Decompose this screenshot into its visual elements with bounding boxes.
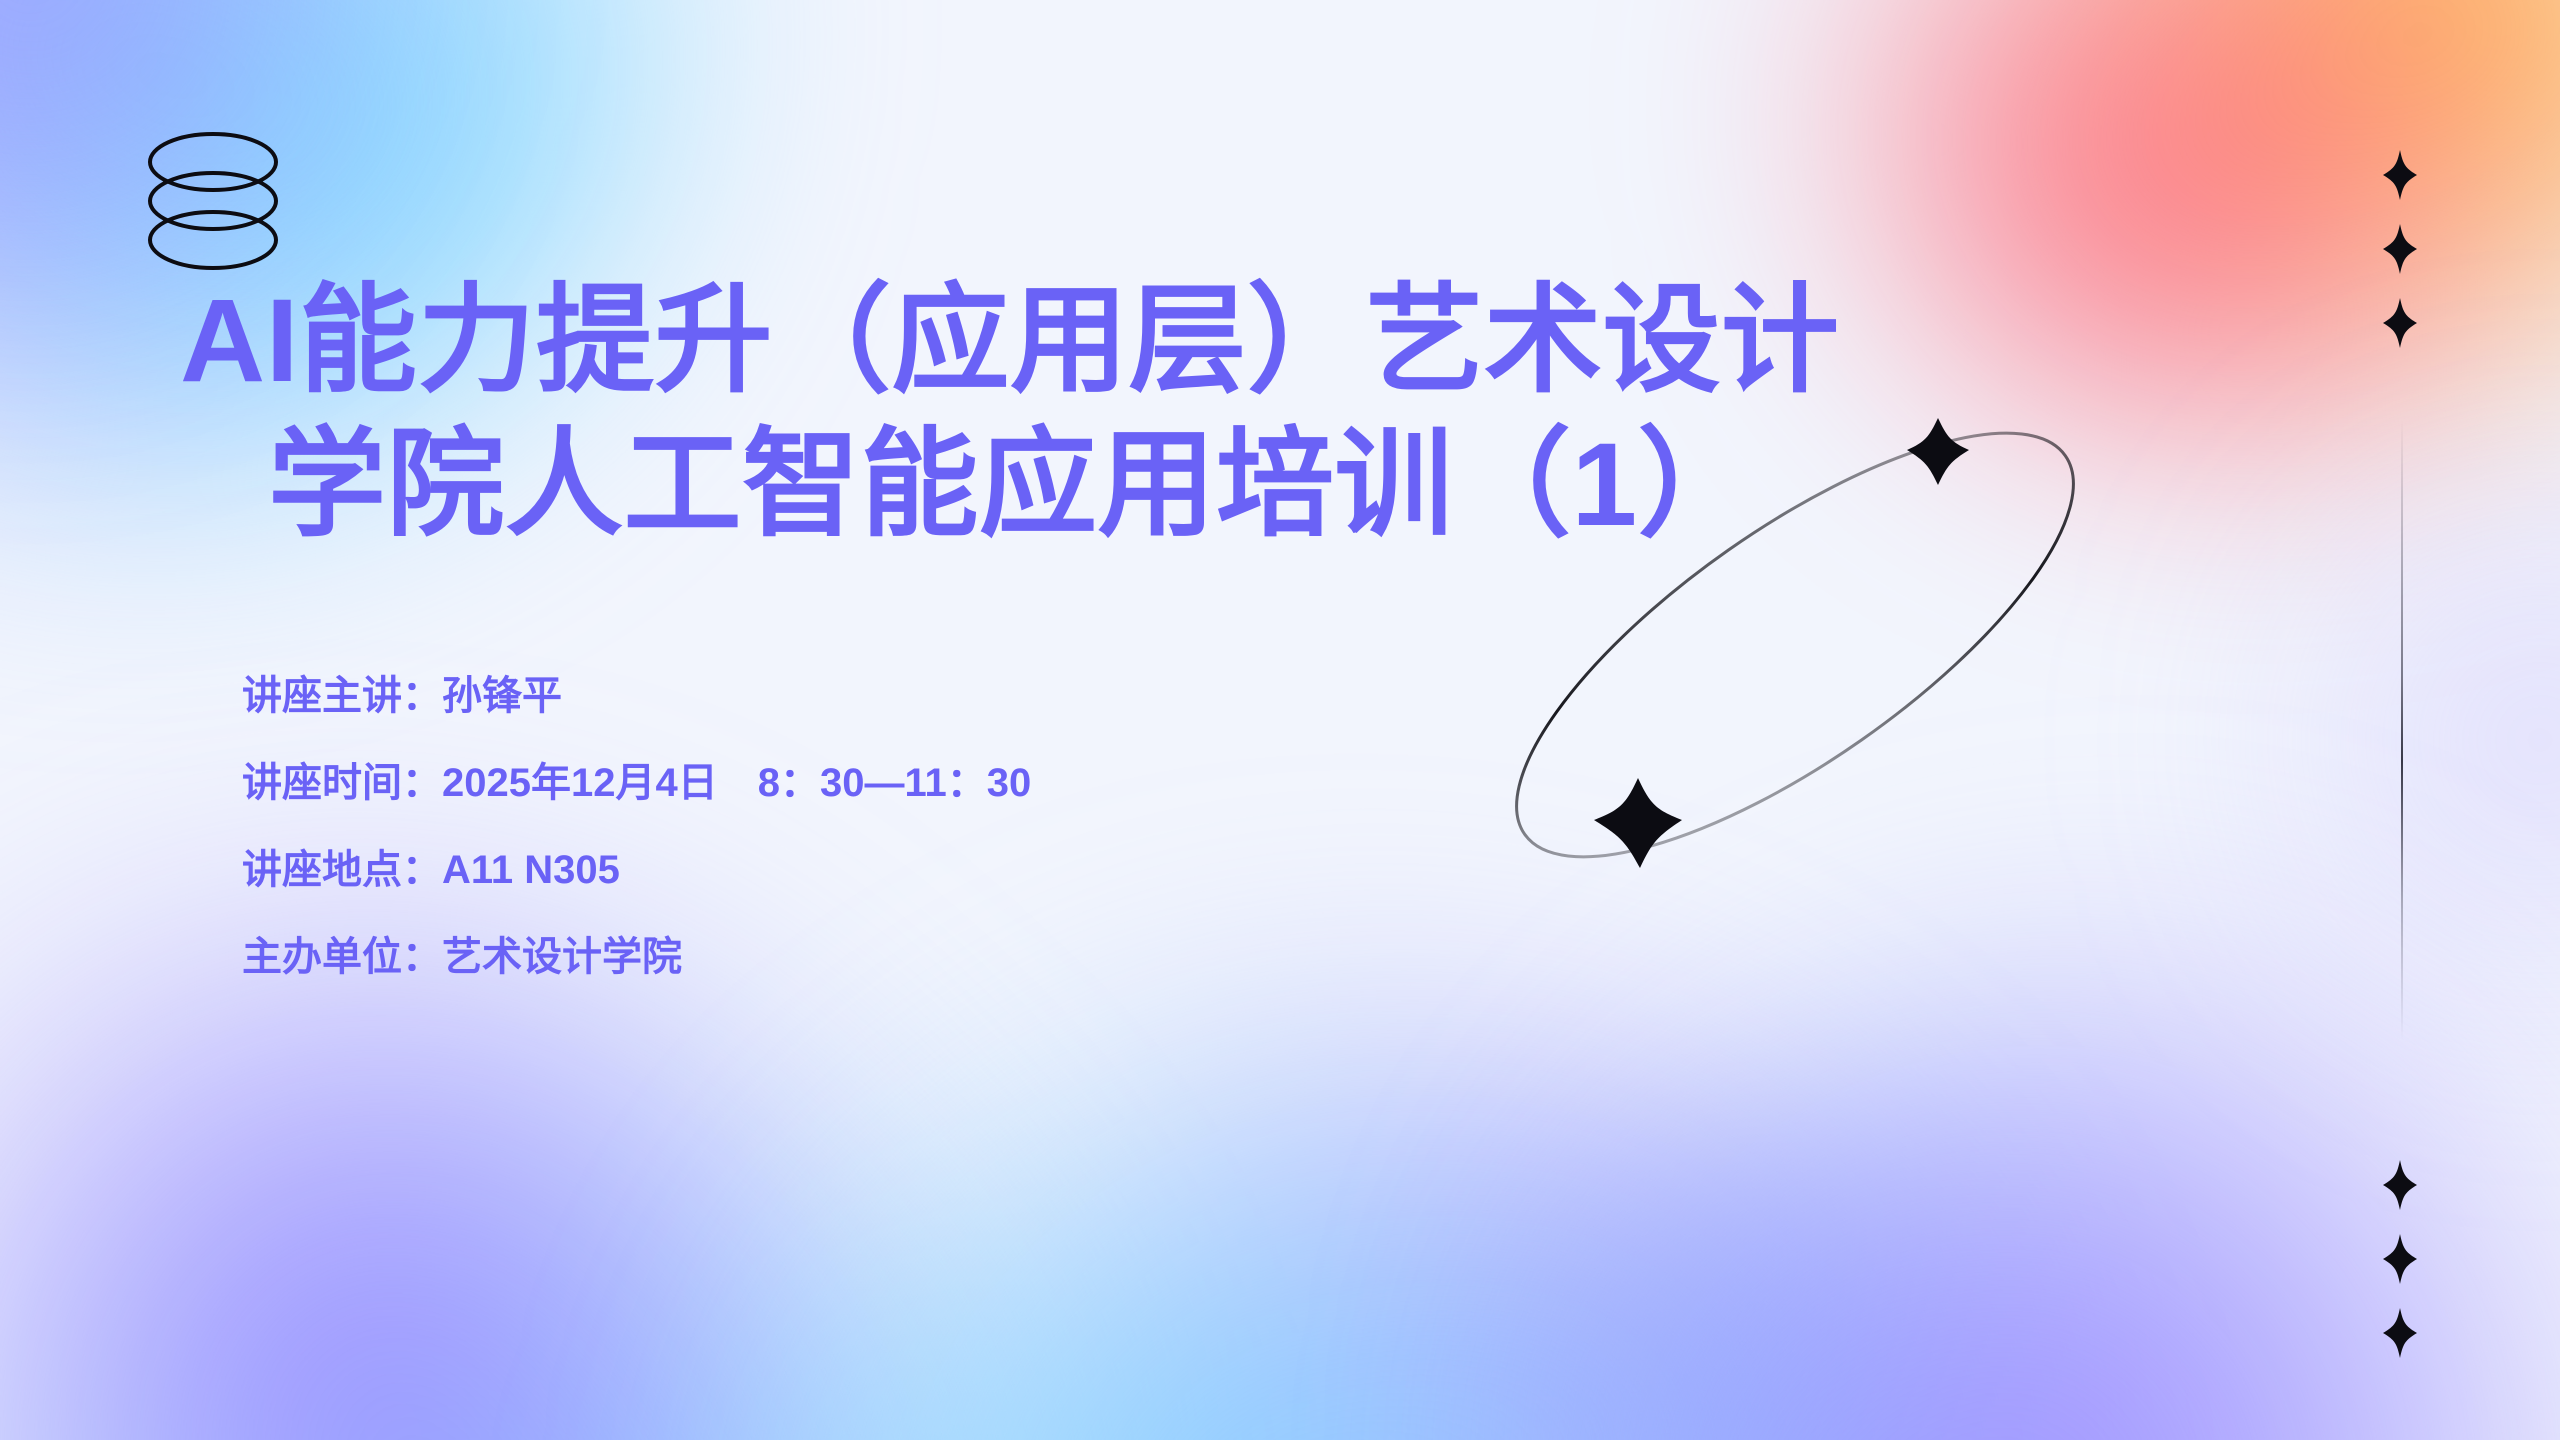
four-point-sparkle-icon <box>2383 1234 2417 1284</box>
detail-value-time: 2025年12月4日 8：30—11：30 <box>442 763 1031 803</box>
lecture-details-list: 讲座主讲： 孙锋平 讲座时间： 2025年12月4日 8：30—11：30 讲座… <box>180 676 2300 977</box>
detail-row-location: 讲座地点： A11 N305 <box>242 850 2300 890</box>
detail-label-speaker: 讲座主讲： <box>242 676 442 716</box>
vertical-rule-icon <box>2401 420 2403 1040</box>
four-point-sparkle-icon <box>2383 150 2417 200</box>
detail-label-time: 讲座时间： <box>242 763 442 803</box>
detail-row-organizer: 主办单位： 艺术设计学院 <box>242 937 2300 977</box>
detail-row-time: 讲座时间： 2025年12月4日 8：30—11：30 <box>242 763 2300 803</box>
poster-content: AI能力提升（应用层）艺术设计 学院人工智能应用培训（1） 讲座主讲： 孙锋平 … <box>180 270 2300 977</box>
sparkle-cluster-bottom-right <box>2383 1160 2417 1358</box>
detail-value-location: A11 N305 <box>442 850 620 890</box>
detail-label-location: 讲座地点： <box>242 850 442 890</box>
four-point-sparkle-icon <box>2383 1160 2417 1210</box>
title-line-2: 学院人工智能应用培训（1） <box>180 414 2300 558</box>
page-title: AI能力提升（应用层）艺术设计 学院人工智能应用培训（1） <box>180 270 2300 558</box>
four-point-sparkle-icon <box>2383 298 2417 348</box>
lecture-poster: AI能力提升（应用层）艺术设计 学院人工智能应用培训（1） 讲座主讲： 孙锋平 … <box>0 0 2560 1440</box>
detail-value-speaker: 孙锋平 <box>442 676 562 716</box>
detail-row-speaker: 讲座主讲： 孙锋平 <box>242 676 2300 716</box>
detail-label-organizer: 主办单位： <box>242 937 442 977</box>
four-point-sparkle-icon <box>2383 1308 2417 1358</box>
stacked-rings-icon <box>118 128 308 278</box>
detail-value-organizer: 艺术设计学院 <box>442 937 682 977</box>
gradient-blob-bottom-middle <box>600 1000 2000 1440</box>
title-line-1: AI能力提升（应用层）艺术设计 <box>180 270 2300 414</box>
sparkle-cluster-top-right <box>2383 150 2417 348</box>
four-point-sparkle-icon <box>2383 224 2417 274</box>
